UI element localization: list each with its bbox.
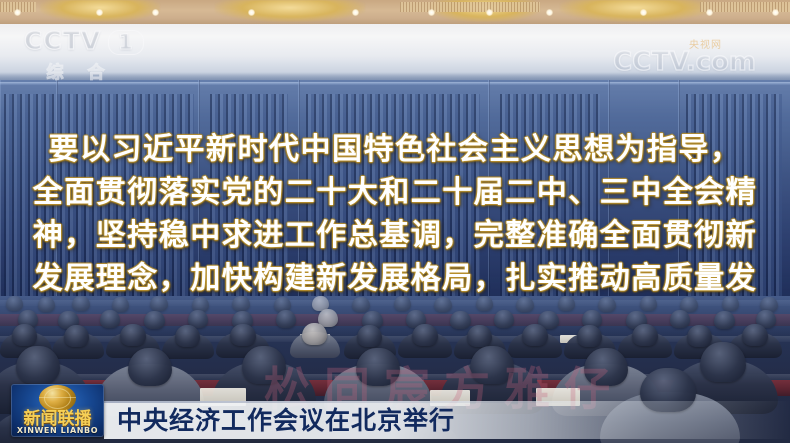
hall-backdrop [0,80,790,305]
hall-ceiling [0,0,790,26]
news-headline: 中央经济工作会议在北京举行 [117,404,455,437]
cctv-channel-number: 1 [108,30,144,55]
cctv1-channel-bug: CCTV1 综 合 [24,28,136,80]
xinwen-lianbo-logo: 新闻联播 XINWEN LIANBO [11,384,104,437]
cctv-brand-text: CCTV [24,26,101,55]
cctv-channel-label: 综 合 [24,58,136,83]
program-name-en: XINWEN LIANBO [11,426,104,435]
lower-third-banner: 中央经济工作会议在北京举行 [0,401,790,439]
broadcast-video-frame: CCTV1 综 合 央视网 CCTV.com 要以习近平新时代中国特色社会主义思… [0,0,790,443]
